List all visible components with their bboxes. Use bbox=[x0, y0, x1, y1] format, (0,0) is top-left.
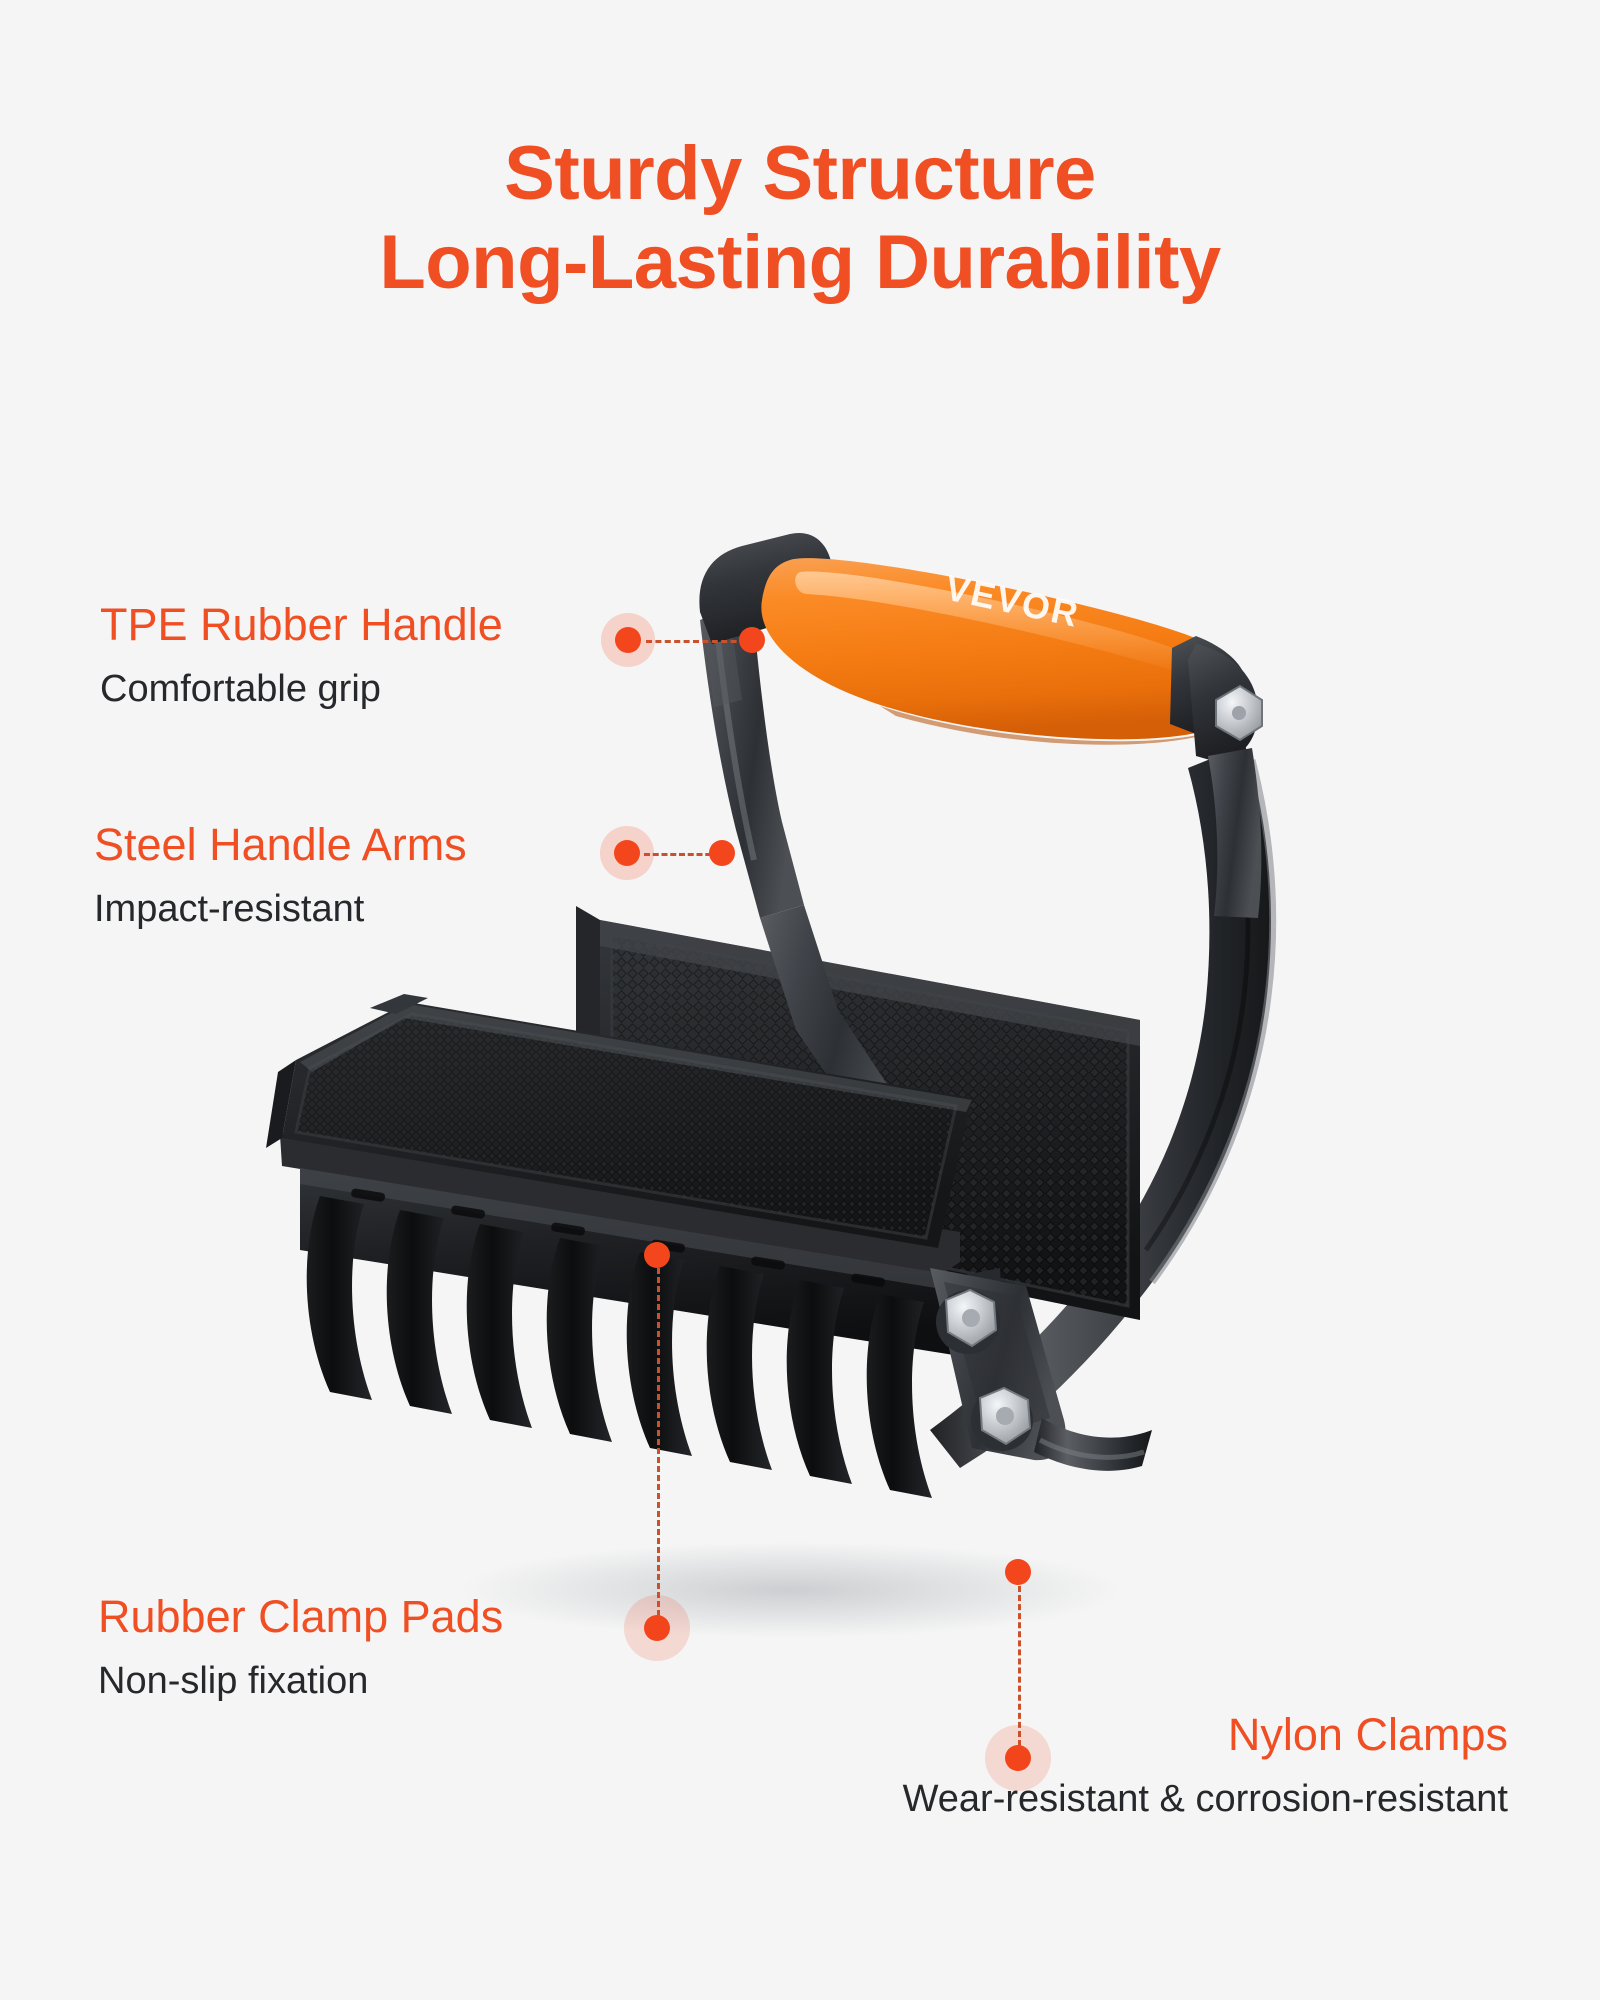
nylon-clamp-assembly bbox=[300, 1168, 1004, 1498]
tpe-rubber-grip: VEVOR bbox=[699, 533, 1248, 745]
hex-bolt-lower bbox=[971, 1388, 1033, 1451]
marker-steel-handle-arms-target[interactable] bbox=[709, 840, 735, 866]
connector-tpe-rubber-handle bbox=[646, 640, 746, 643]
callout-subtitle: Comfortable grip bbox=[100, 666, 503, 714]
callout-tpe-rubber-handle: TPE Rubber Handle Comfortable grip bbox=[100, 600, 503, 713]
callout-rubber-clamp-pads: Rubber Clamp Pads Non-slip fixation bbox=[98, 1592, 503, 1705]
marker-tpe-rubber-handle-target[interactable] bbox=[739, 627, 765, 653]
hex-bolt-upper bbox=[936, 1290, 1000, 1354]
page-title-line-1: Sturdy Structure bbox=[0, 130, 1600, 219]
page-title-line-2: Long-Lasting Durability bbox=[0, 219, 1600, 308]
callout-title: Rubber Clamp Pads bbox=[98, 1592, 503, 1642]
handle-pivot-right bbox=[1188, 644, 1262, 761]
callout-subtitle: Impact-resistant bbox=[94, 886, 467, 934]
marker-rubber-clamp-pads-target[interactable] bbox=[644, 1242, 670, 1268]
marker-steel-handle-arms-label[interactable] bbox=[614, 840, 640, 866]
connector-rubber-clamp-pads bbox=[657, 1268, 660, 1616]
brand-mark: VEVOR bbox=[942, 567, 1084, 635]
infographic-page: Sturdy Structure Long-Lasting Durability bbox=[0, 0, 1600, 2000]
callout-subtitle: Non-slip fixation bbox=[98, 1658, 503, 1706]
callout-title: TPE Rubber Handle bbox=[100, 600, 503, 650]
marker-nylon-clamps-label[interactable] bbox=[1005, 1745, 1031, 1771]
connector-nylon-clamps bbox=[1018, 1586, 1021, 1746]
marker-nylon-clamps-target[interactable] bbox=[1005, 1559, 1031, 1585]
callout-title: Steel Handle Arms bbox=[94, 820, 467, 870]
marker-rubber-clamp-pads-label[interactable] bbox=[644, 1615, 670, 1641]
callout-subtitle: Wear-resistant & corrosion-resistant bbox=[903, 1776, 1508, 1824]
page-title: Sturdy Structure Long-Lasting Durability bbox=[0, 130, 1600, 308]
marker-tpe-rubber-handle-label[interactable] bbox=[615, 627, 641, 653]
steel-bracket-plate bbox=[930, 1268, 1066, 1460]
front-clamp-pad bbox=[266, 994, 972, 1274]
callout-steel-handle-arms: Steel Handle Arms Impact-resistant bbox=[94, 820, 467, 933]
